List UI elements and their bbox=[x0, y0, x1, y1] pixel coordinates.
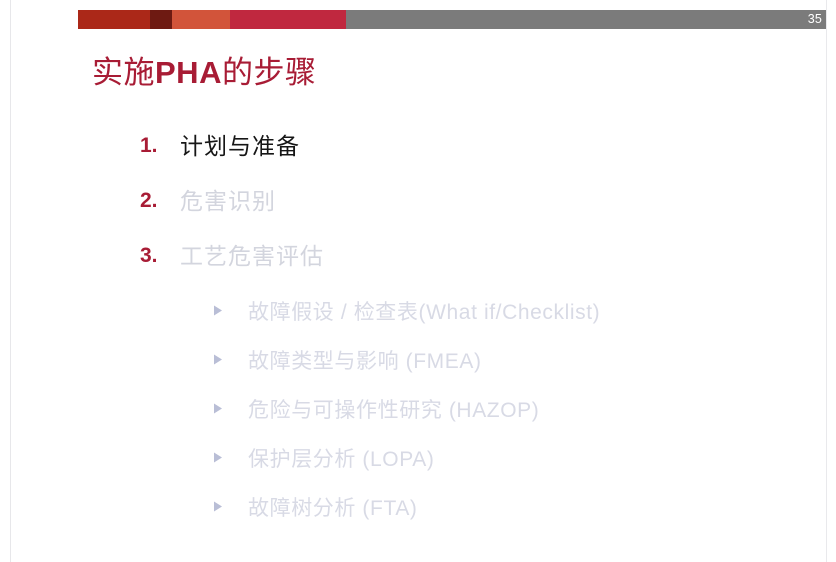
page-title: 实施PHA的步骤 bbox=[92, 53, 316, 93]
list-item[interactable]: 保护层分析 (LOPA) bbox=[212, 446, 832, 495]
header-color-band bbox=[78, 10, 826, 29]
arrow-bullet-icon bbox=[212, 495, 248, 513]
slide-canvas: 35 实施PHA的步骤 1. 计划与准备 2. 危害识别 3. 工艺危害评估 故… bbox=[0, 0, 836, 562]
list-item-label: 工艺危害评估 bbox=[180, 241, 324, 271]
slide-number: 35 bbox=[808, 10, 822, 29]
list-item[interactable]: 3. 工艺危害评估 bbox=[140, 241, 780, 296]
arrow-bullet-icon bbox=[212, 397, 248, 415]
band-segment-brick bbox=[78, 10, 150, 29]
arrow-bullet-icon bbox=[212, 446, 248, 464]
list-item[interactable]: 故障树分析 (FTA) bbox=[212, 495, 832, 544]
list-item-marker: 3. bbox=[140, 241, 180, 271]
list-item[interactable]: 故障类型与影响 (FMEA) bbox=[212, 348, 832, 397]
numbered-list: 1. 计划与准备 2. 危害识别 3. 工艺危害评估 bbox=[140, 131, 780, 296]
sub-bullet-list: 故障假设 / 检查表(What if/Checklist) 故障类型与影响 (F… bbox=[212, 299, 832, 544]
sub-item-label: 故障树分析 (FTA) bbox=[248, 495, 418, 523]
band-segment-dark-maroon bbox=[150, 10, 172, 29]
band-segment-orange bbox=[172, 10, 230, 29]
list-item-marker: 2. bbox=[140, 186, 180, 216]
sub-item-label: 故障假设 / 检查表(What if/Checklist) bbox=[248, 299, 600, 327]
page-edge-left-divider bbox=[10, 0, 11, 562]
list-item-marker: 1. bbox=[140, 131, 180, 161]
arrow-bullet-icon bbox=[212, 348, 248, 366]
list-item-label: 危害识别 bbox=[180, 186, 276, 216]
sub-item-label: 保护层分析 (LOPA) bbox=[248, 446, 435, 474]
list-item[interactable]: 危险与可操作性研究 (HAZOP) bbox=[212, 397, 832, 446]
list-item[interactable]: 2. 危害识别 bbox=[140, 186, 780, 241]
list-item-label: 计划与准备 bbox=[180, 131, 300, 161]
list-item[interactable]: 1. 计划与准备 bbox=[140, 131, 780, 186]
page-title-emphasis: PHA bbox=[155, 55, 222, 90]
page-title-prefix: 实施 bbox=[92, 55, 155, 90]
band-segment-gray bbox=[346, 10, 826, 29]
sub-item-label: 危险与可操作性研究 (HAZOP) bbox=[248, 397, 539, 425]
arrow-bullet-icon bbox=[212, 299, 248, 317]
page-title-suffix: 的步骤 bbox=[222, 55, 317, 90]
sub-item-label: 故障类型与影响 (FMEA) bbox=[248, 348, 482, 376]
band-segment-crimson bbox=[230, 10, 346, 29]
list-item[interactable]: 故障假设 / 检查表(What if/Checklist) bbox=[212, 299, 832, 348]
